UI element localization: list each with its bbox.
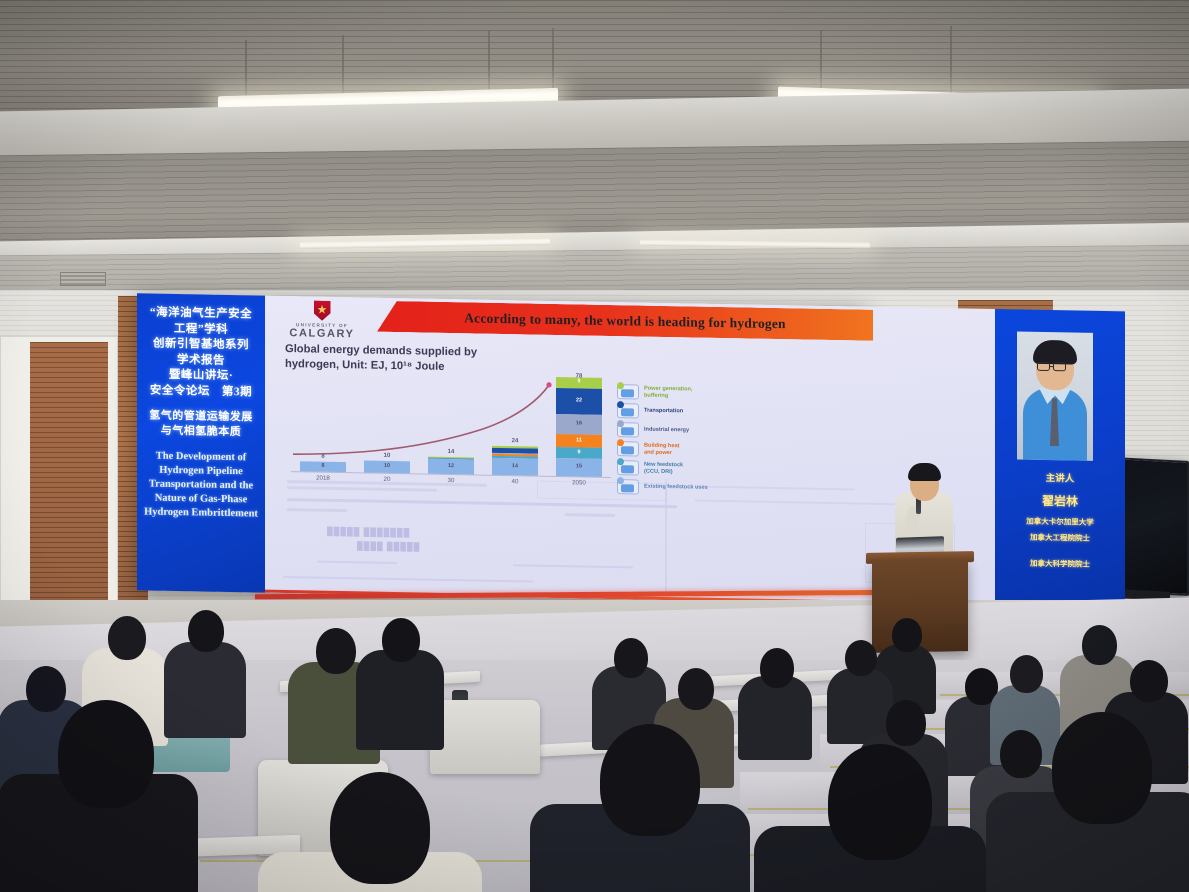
banner-subject-en-line: Hydrogen Embrittlement xyxy=(143,505,259,521)
light-hanger-rod xyxy=(342,35,344,97)
chart-bars: 88101014122414789221611915 xyxy=(291,374,611,477)
presenter-hair xyxy=(908,463,941,481)
speaker-portrait xyxy=(1017,331,1093,460)
ac-vent xyxy=(60,272,106,286)
chart-bar-total-label: 24 xyxy=(483,438,547,445)
speaker-affiliation-line: 加拿大卡尔加里大学 xyxy=(995,515,1125,528)
speaker-affiliation-line: 加拿大科学院院士 xyxy=(995,557,1125,570)
slide-title-text: According to many, the world is heading … xyxy=(464,310,786,332)
glasses-icon xyxy=(1037,362,1050,371)
speaker-affiliation-line: 加拿大工程院院士 xyxy=(995,531,1125,544)
shield-icon xyxy=(314,301,331,321)
chart-bar-group: 789221611915 xyxy=(547,379,611,477)
chart-bar-group: 88 xyxy=(291,374,355,472)
chart-bar-segment: 11 xyxy=(556,434,602,448)
chart-bar-segment: 14 xyxy=(492,458,538,476)
chart-bar-group: 2414 xyxy=(483,378,547,476)
legend-pictogram-icon xyxy=(617,441,639,456)
chart-bar: 10 xyxy=(364,460,410,473)
side-door xyxy=(30,342,108,614)
portrait-hair xyxy=(1033,340,1077,365)
light-hanger-rod xyxy=(820,30,822,94)
chart-bar-segment: 9 xyxy=(556,447,602,459)
university-logo: UNIVERSITY OF CALGARY xyxy=(289,300,355,340)
lecture-chair[interactable] xyxy=(430,700,540,774)
projection-screen: “海洋油气生产安全 工程”学科 创新引智基地系列 学术报告 暨峰山讲坛· 安全令… xyxy=(137,293,867,603)
glasses-icon xyxy=(1053,362,1066,371)
banner-title-cn: “海洋油气生产安全 工程”学科 创新引智基地系列 学术报告 暨峰山讲坛· 安全令… xyxy=(137,293,265,400)
chart-bar-total-label: 8 xyxy=(291,453,355,460)
legend-label: Power generation,buffering xyxy=(644,386,693,400)
speaker-role-label: 主讲人 xyxy=(995,469,1125,485)
slide-heading: Global energy demands supplied by hydrog… xyxy=(285,342,615,377)
legend-pictogram-icon xyxy=(617,403,639,418)
legend-pictogram-icon xyxy=(617,460,639,475)
chart-bar-segment: 12 xyxy=(428,459,474,474)
banner-subject-line: 氢气的管道运输发展 xyxy=(142,408,260,425)
light-hanger-rod xyxy=(245,40,247,98)
lecture-hall-photo: “海洋油气生产安全 工程”学科 创新引智基地系列 学术报告 暨峰山讲坛· 安全令… xyxy=(0,0,1189,892)
banner-title-line: “海洋油气生产安全 xyxy=(142,305,260,323)
chart-bar-segment: 16 xyxy=(556,414,602,434)
legend-pictogram-icon xyxy=(617,422,639,437)
chart-bar: 9221611915 xyxy=(556,377,602,477)
light-hanger-rod xyxy=(488,30,490,96)
light-hanger-rod xyxy=(552,28,554,96)
banner-subject-en: The Development of Hydrogen Pipeline Tra… xyxy=(137,438,265,521)
legend-pictogram-icon xyxy=(617,384,639,399)
banner-subject-cn: 氢气的管道运输发展 与气相氢脆本质 xyxy=(137,398,265,440)
chart-bar-segment: 8 xyxy=(300,462,346,473)
legend-label: Industrial energy xyxy=(644,427,689,434)
event-banner: “海洋油气生产安全 工程”学科 创新引智基地系列 学术报告 暨峰山讲坛· 安全令… xyxy=(137,293,265,592)
banner-title-line: 创新引智基地系列 xyxy=(142,336,260,354)
legend-label: Building heatand power xyxy=(644,443,679,457)
chart-bar: 8 xyxy=(300,462,346,473)
chart-bar-total-label: 10 xyxy=(355,452,419,459)
chart-bar: 12 xyxy=(428,457,474,475)
legend-label: New feedstock(CCU, DRI) xyxy=(644,462,683,476)
chart-bar: 14 xyxy=(492,446,538,476)
chart-bar-group: 1412 xyxy=(419,376,483,474)
chart-bar-segment: 22 xyxy=(556,388,602,416)
light-hanger-rod xyxy=(950,26,952,94)
chart-bar-total-label: 78 xyxy=(547,373,611,380)
glasses-bridge xyxy=(1050,366,1053,367)
speaker-info-panel: 主讲人 翟岩林 加拿大卡尔加里大学 加拿大工程院院士 加拿大科学院院士 xyxy=(995,309,1125,608)
legend-label: Transportation xyxy=(644,408,683,415)
logo-line-2: CALGARY xyxy=(289,327,355,340)
banner-title-line: 安全令论坛 第3期 xyxy=(142,383,260,401)
chart-bar-group: 1010 xyxy=(355,375,419,473)
chart-bar-segment: 10 xyxy=(364,460,410,473)
speaker-name: 翟岩林 xyxy=(995,491,1125,510)
chart-bar-total-label: 14 xyxy=(419,449,483,456)
chart-bar-segment: 15 xyxy=(556,458,602,477)
slide-title-banner: According to many, the world is heading … xyxy=(377,301,873,341)
